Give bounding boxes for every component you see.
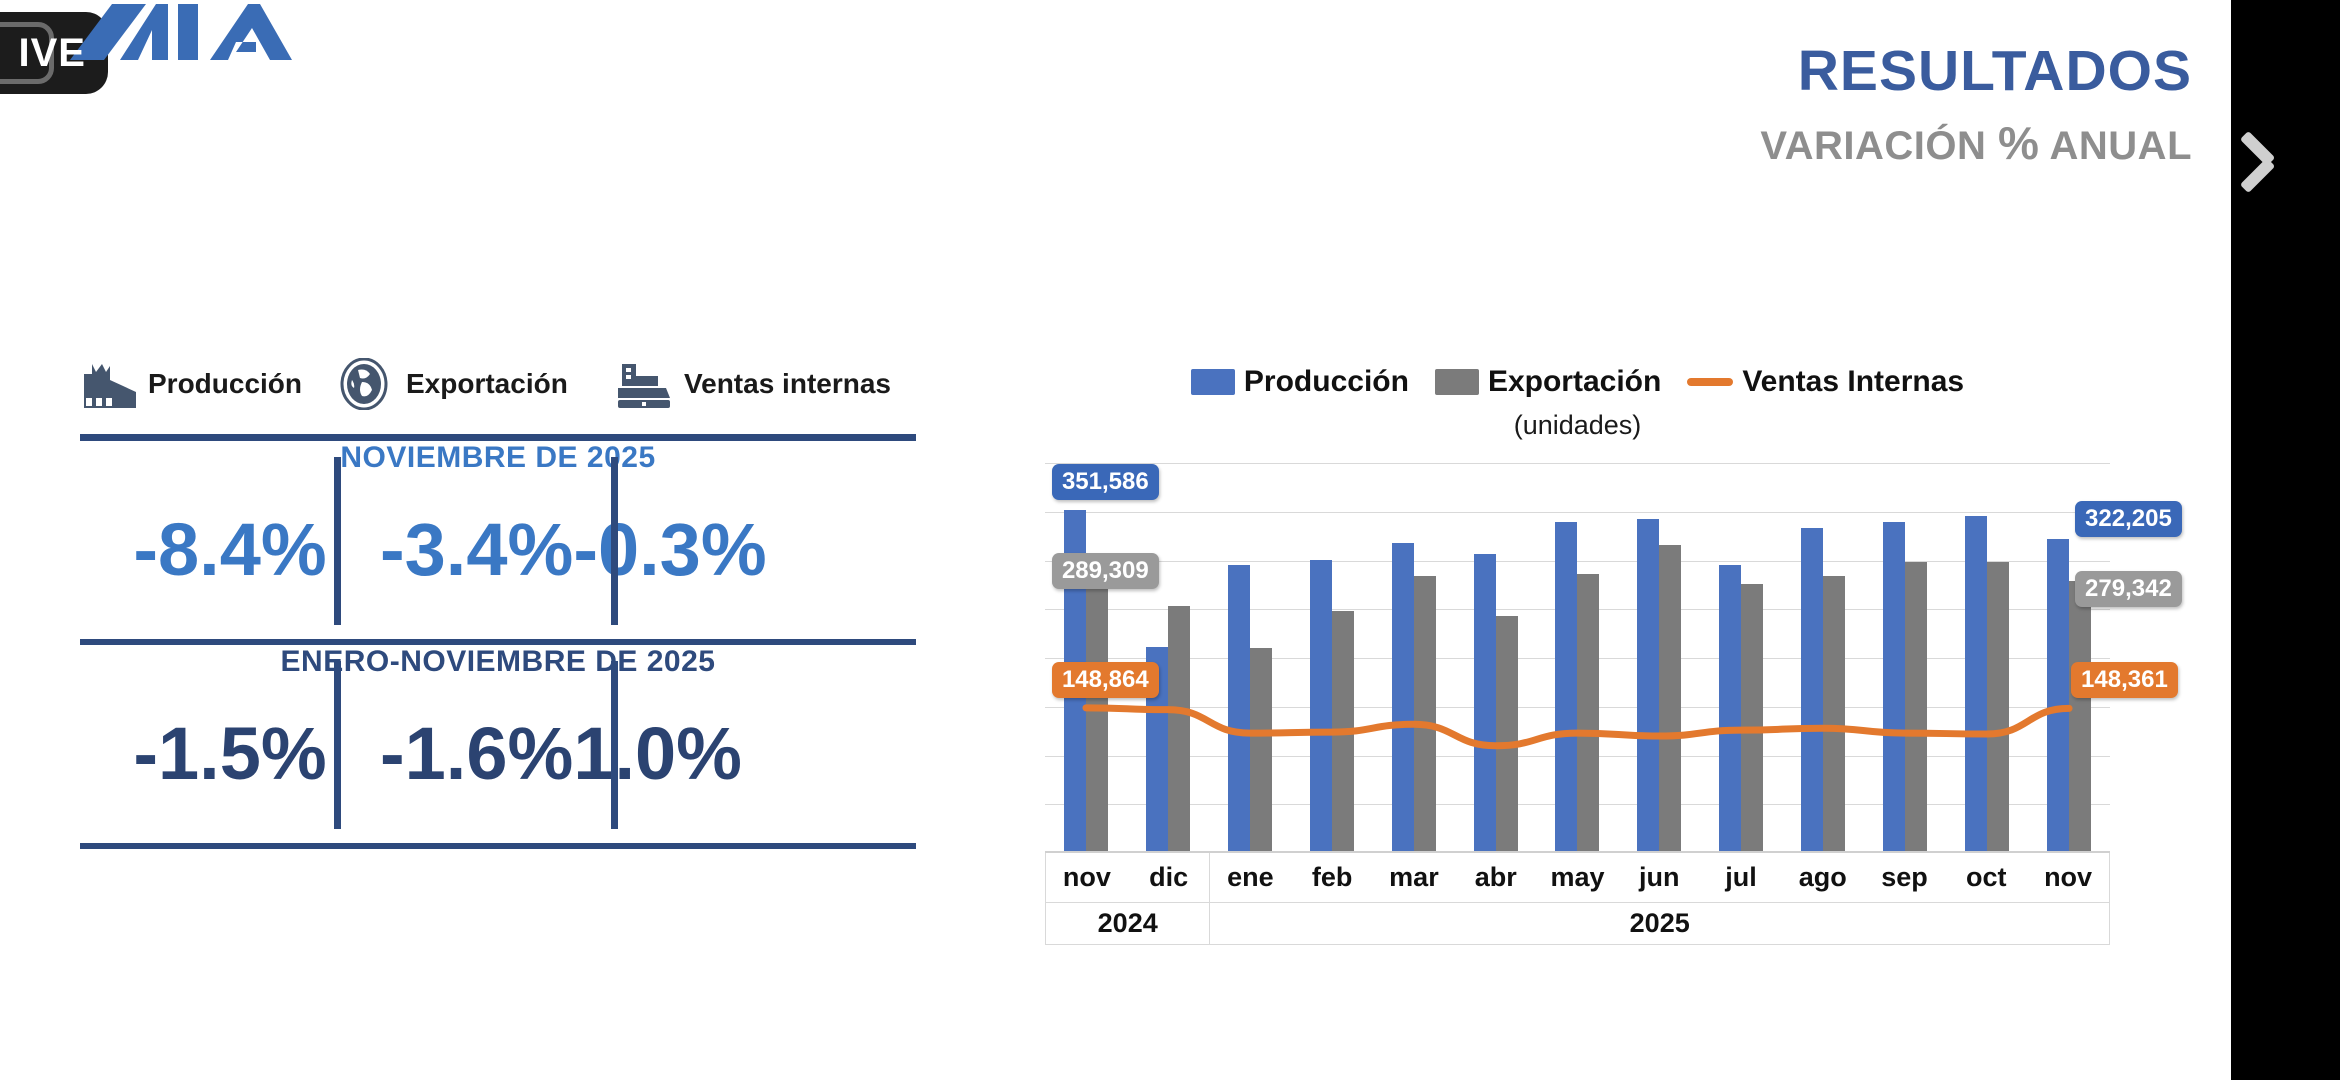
factory-icon <box>80 358 138 410</box>
value-produccion-nov: -8.4% <box>133 513 326 587</box>
month-label: jun <box>1618 853 1700 902</box>
value-produccion-ytd: -1.5% <box>133 717 326 791</box>
bar-exportacion <box>1741 584 1763 853</box>
value-exportacion-nov: -3.4% <box>380 513 573 587</box>
page-subtitle: VARIACIÓN % ANUAL <box>1760 116 2192 170</box>
bar-group <box>1618 463 1700 853</box>
bar-exportacion <box>1496 616 1518 853</box>
column-divider-4 <box>611 661 618 829</box>
bar-produccion <box>1228 565 1250 853</box>
data-label: 148,361 <box>2071 662 2178 698</box>
table-rule-top <box>80 434 916 441</box>
month-label: dic <box>1128 853 1210 902</box>
bar-exportacion <box>1250 648 1272 853</box>
data-label: 279,342 <box>2075 571 2182 607</box>
bar-group <box>1373 463 1455 853</box>
data-label: 351,586 <box>1052 464 1159 500</box>
bar-produccion <box>1555 522 1577 853</box>
indicator-exportacion-label: Exportación <box>406 368 568 400</box>
chevron-left-icon[interactable] <box>2265 140 2309 208</box>
side-rail <box>2231 0 2340 1080</box>
page-subtitle-b: ANUAL <box>2039 124 2192 168</box>
legend-label-produccion: Producción <box>1244 365 1409 399</box>
month-label: oct <box>1945 853 2027 902</box>
month-label: sep <box>1864 853 1946 902</box>
bar-exportacion <box>1905 562 1927 853</box>
legend-item-exportacion: Exportación <box>1435 365 1661 399</box>
period-2-title: ENERO-NOVIEMBRE DE 2025 <box>80 645 916 679</box>
period-2-values: -1.5% -1.6% 1.0% <box>80 679 916 829</box>
data-label: 148,864 <box>1052 662 1159 698</box>
bar-produccion <box>1474 554 1496 853</box>
chart-plot-area: 351,586289,309148,864322,205279,342148,3… <box>1045 463 2110 853</box>
bar-group <box>1700 463 1782 853</box>
bar-produccion <box>1801 528 1823 853</box>
page-subtitle-percent: % <box>1998 117 2039 169</box>
bar-produccion <box>1392 543 1414 853</box>
value-exportacion-ytd: -1.6% <box>380 717 573 791</box>
legend-swatch-produccion <box>1191 369 1235 395</box>
bar-exportacion <box>1414 576 1436 853</box>
bar-exportacion <box>2069 581 2091 853</box>
month-label: may <box>1537 853 1619 902</box>
value-ventas-nov: -0.3% <box>573 513 766 587</box>
month-label: jul <box>1700 853 1782 902</box>
bar-produccion <box>1965 516 1987 853</box>
month-label: ago <box>1782 853 1864 902</box>
bar-exportacion <box>1659 545 1681 853</box>
month-label: abr <box>1455 853 1537 902</box>
truck-icon <box>616 358 674 410</box>
indicator-produccion: Producción <box>80 358 338 410</box>
brand-logo <box>60 2 320 64</box>
indicator-ventas-label: Ventas internas <box>684 368 891 400</box>
bar-group <box>1864 463 1946 853</box>
indicator-row: Producción Exportación <box>80 348 916 420</box>
bar-exportacion <box>1332 611 1354 853</box>
bar-group <box>1045 463 1127 853</box>
chart-month-labels: novdicenefebmarabrmayjunjulagosepoctnov <box>1045 853 2110 903</box>
slide-canvas: IVE RESULTADOS VARIACIÓN % ANUAL <box>0 0 2340 1080</box>
bar-exportacion <box>1823 576 1845 853</box>
bar-exportacion <box>1577 574 1599 853</box>
bar-group <box>1127 463 1209 853</box>
globe-icon <box>338 358 396 410</box>
chart-year-labels: 2024 2025 <box>1045 903 2110 945</box>
month-label: nov <box>2027 853 2109 902</box>
legend-item-produccion: Producción <box>1191 365 1409 399</box>
page-title: RESULTADOS <box>1760 42 2192 102</box>
bar-group <box>1291 463 1373 853</box>
month-label: feb <box>1291 853 1373 902</box>
bar-produccion <box>1637 519 1659 853</box>
bar-group <box>1209 463 1291 853</box>
column-divider-1 <box>334 457 341 625</box>
legend-swatch-exportacion <box>1435 369 1479 395</box>
month-label: nov <box>1046 853 1128 902</box>
indicator-ventas-internas: Ventas internas <box>616 358 916 410</box>
bar-exportacion <box>1086 571 1108 853</box>
bar-group <box>1946 463 2028 853</box>
chart-year-2025: 2025 <box>1210 903 2109 944</box>
cell-exportacion-ytd: -1.6% <box>380 679 573 829</box>
period-1-title: NOVIEMBRE DE 2025 <box>80 441 916 475</box>
bar-produccion <box>1719 565 1741 853</box>
data-label: 322,205 <box>2075 501 2182 537</box>
data-label: 289,309 <box>1052 553 1159 589</box>
chart-year-split <box>1209 853 1210 903</box>
cell-ventas-nov: -0.3% <box>573 475 766 625</box>
results-chart: Producción Exportación Ventas Internas (… <box>1045 360 2110 980</box>
page-subtitle-a: VARIACIÓN <box>1760 124 1998 168</box>
legend-line-ventas <box>1687 378 1733 386</box>
legend-label-exportacion: Exportación <box>1488 365 1661 399</box>
bar-exportacion <box>1168 606 1190 853</box>
cell-ventas-ytd: 1.0% <box>573 679 742 829</box>
page-header: RESULTADOS VARIACIÓN % ANUAL <box>1760 42 2192 170</box>
column-divider-2 <box>611 457 618 625</box>
chart-bars <box>1045 463 2110 853</box>
cell-exportacion-nov: -3.4% <box>380 475 573 625</box>
month-label: ene <box>1210 853 1292 902</box>
indicator-exportacion: Exportación <box>338 358 616 410</box>
value-ventas-ytd: 1.0% <box>573 717 742 791</box>
chart-legend: Producción Exportación Ventas Internas <box>1045 360 2110 404</box>
bar-group <box>1455 463 1537 853</box>
legend-label-ventas: Ventas Internas <box>1742 365 1964 399</box>
bar-produccion <box>1883 522 1905 853</box>
period-1-values: -8.4% -3.4% -0.3% <box>80 475 916 625</box>
live-badge-label: IVE <box>19 31 86 76</box>
bar-produccion <box>2047 539 2069 853</box>
bar-group <box>1782 463 1864 853</box>
chart-x-axis: novdicenefebmarabrmayjunjulagosepoctnov … <box>1045 853 2110 945</box>
legend-item-ventas: Ventas Internas <box>1687 365 1964 399</box>
column-divider-3 <box>334 661 341 829</box>
chart-year-2024: 2024 <box>1046 903 1210 944</box>
table-rule-bottom <box>80 843 916 849</box>
chart-units-label: (unidades) <box>1045 410 2110 441</box>
indicator-produccion-label: Producción <box>148 368 302 400</box>
bar-group <box>1537 463 1619 853</box>
bar-exportacion <box>1987 562 2009 853</box>
bar-produccion <box>1310 560 1332 853</box>
month-label: mar <box>1373 853 1455 902</box>
variation-table: Producción Exportación <box>80 348 916 849</box>
